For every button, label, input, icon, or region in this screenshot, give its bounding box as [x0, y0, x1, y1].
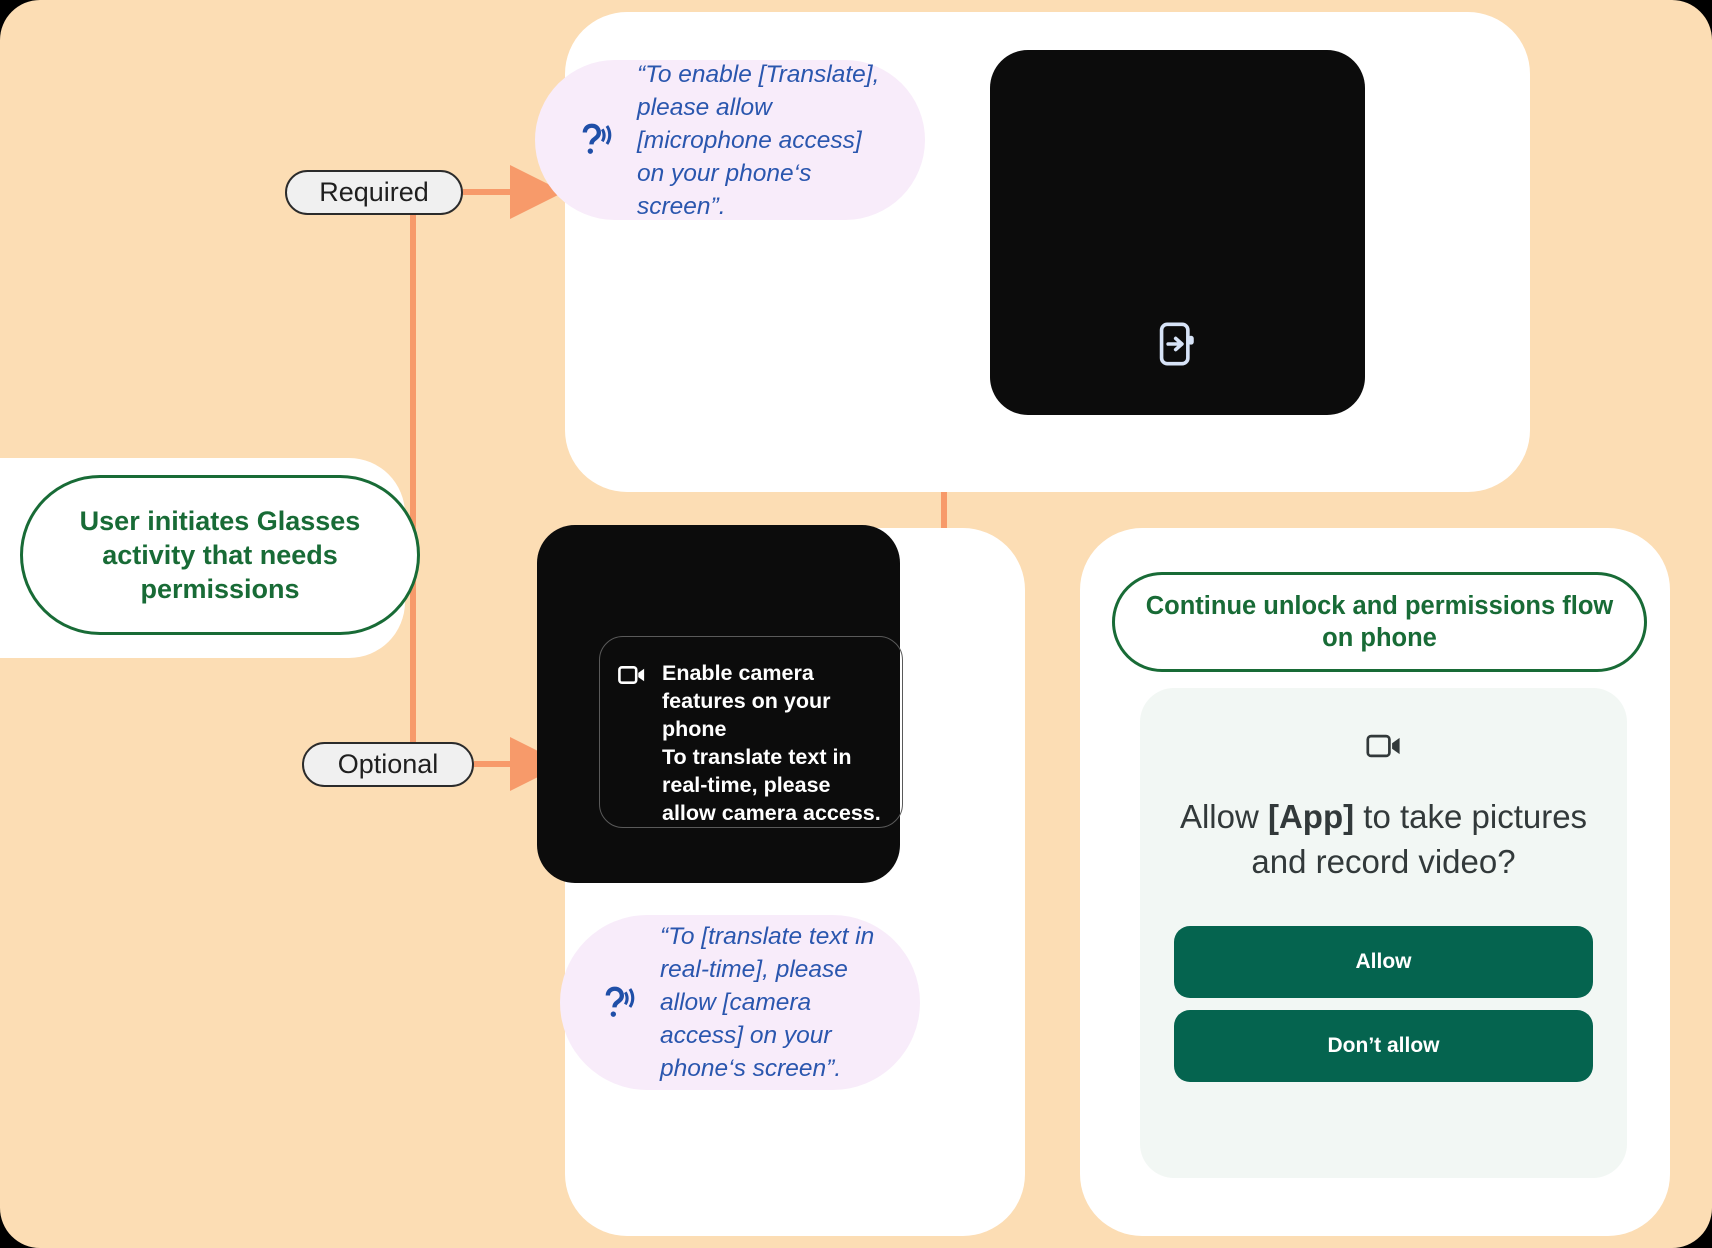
glasses-camera-body: To translate text in real-time, please a… [662, 743, 882, 827]
branch-optional-pill[interactable]: Optional [302, 742, 474, 787]
diagram-canvas: User initiates Glasses activity that nee… [0, 0, 1712, 1248]
ear-hearing-icon [575, 119, 615, 161]
video-camera-icon [1366, 732, 1402, 760]
microphone-prompt-bubble: “To enable [Translate], please allow [mi… [535, 60, 925, 220]
dont-allow-button[interactable]: Don’t allow [1174, 1010, 1593, 1082]
branch-optional-label: Optional [338, 749, 439, 780]
permission-dialog-actions: Allow Don’t allow [1174, 926, 1593, 1082]
branch-required-label: Required [319, 177, 429, 208]
glasses-camera-text: Enable camera features on your phone To … [662, 659, 882, 827]
glasses-display-unlock [990, 50, 1365, 415]
glasses-display-camera: Enable camera features on your phone To … [537, 525, 900, 883]
ear-hearing-icon [598, 982, 638, 1024]
camera-prompt-text: “To [translate text in real-time], pleas… [660, 920, 886, 1085]
glasses-camera-heading: Enable camera features on your phone [662, 659, 882, 743]
phone-arrow-unlock-icon [1158, 321, 1198, 367]
start-node[interactable]: User initiates Glasses activity that nee… [20, 475, 420, 635]
permission-title-prefix: Allow [1180, 798, 1268, 835]
continue-node-label: Continue unlock and permissions flow on … [1139, 590, 1620, 654]
allow-button[interactable]: Allow [1174, 926, 1593, 998]
video-camera-icon [618, 664, 646, 686]
permission-dialog: Allow [App] to take pictures and record … [1140, 688, 1627, 1178]
microphone-prompt-text: “To enable [Translate], please allow [mi… [637, 58, 891, 223]
branch-required-pill[interactable]: Required [285, 170, 463, 215]
permission-title-app: [App] [1268, 798, 1354, 835]
continue-node[interactable]: Continue unlock and permissions flow on … [1112, 572, 1647, 672]
start-node-label: User initiates Glasses activity that nee… [49, 504, 391, 606]
permission-dialog-title: Allow [App] to take pictures and record … [1174, 794, 1593, 884]
glasses-camera-notification: Enable camera features on your phone To … [599, 636, 903, 828]
camera-prompt-bubble: “To [translate text in real-time], pleas… [560, 915, 920, 1090]
